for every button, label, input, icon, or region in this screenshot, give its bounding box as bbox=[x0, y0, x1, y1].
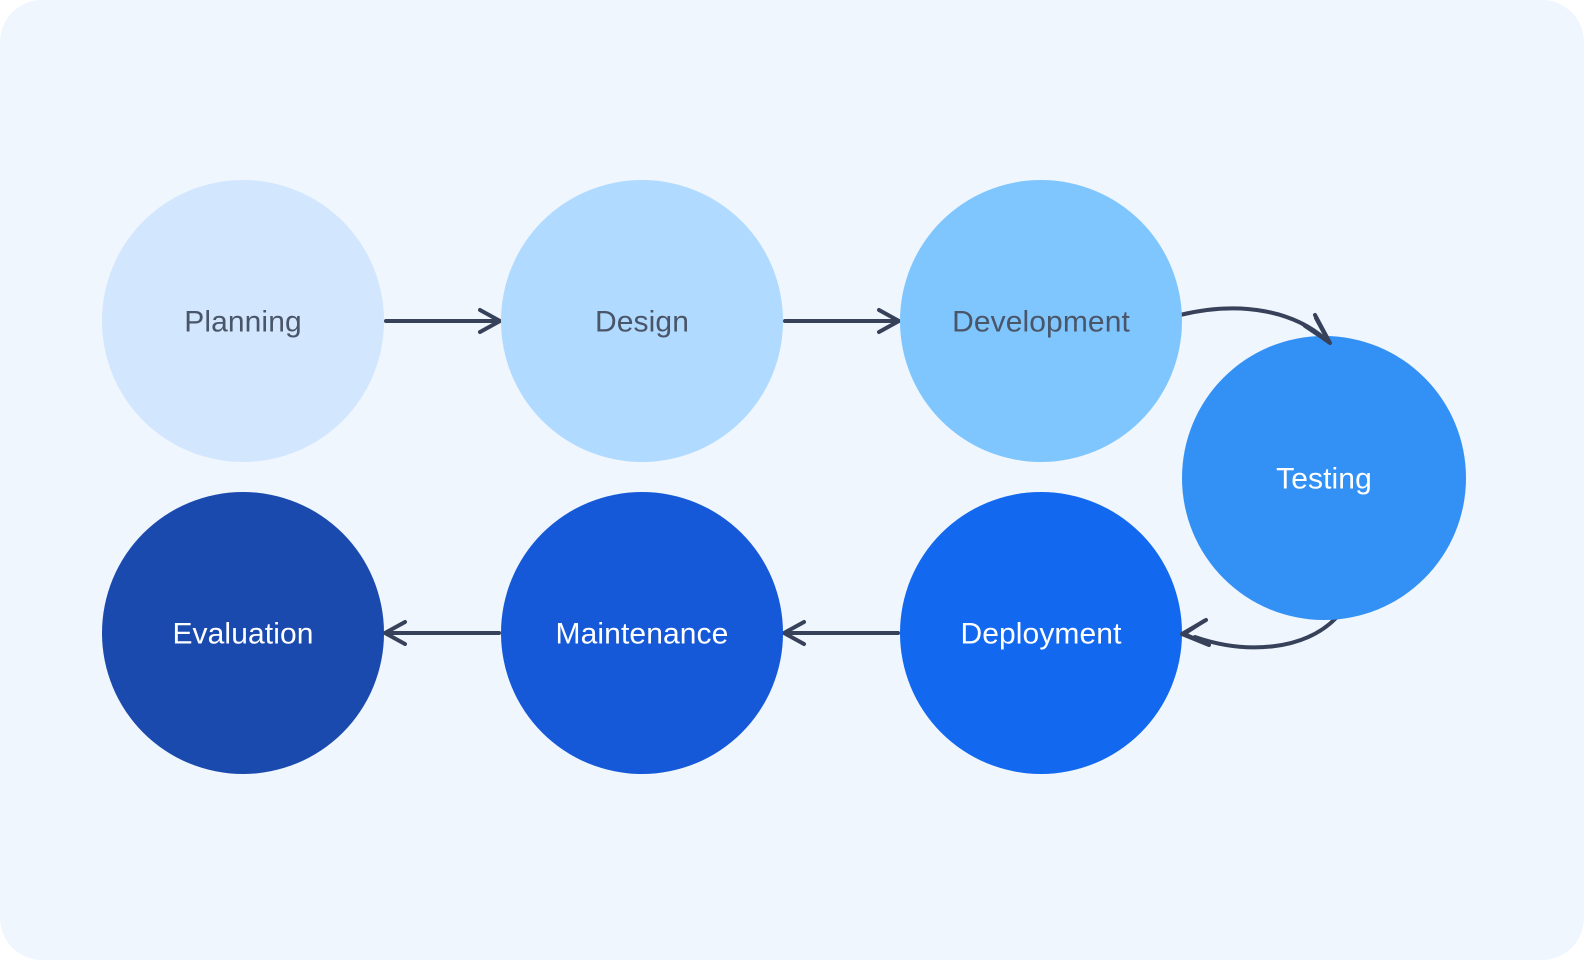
node-design[interactable]: Design bbox=[501, 180, 783, 462]
flow-diagram: Planning Design Development Testing Depl… bbox=[0, 0, 1584, 960]
node-deployment-circle[interactable] bbox=[900, 492, 1182, 774]
connector-design-to-development bbox=[785, 310, 899, 332]
arrow-head-icon-testing-to-deployment bbox=[1182, 620, 1209, 645]
node-maintenance-circle[interactable] bbox=[501, 492, 783, 774]
node-group: Planning Design Development Testing Depl… bbox=[102, 180, 1466, 774]
node-planning[interactable]: Planning bbox=[102, 180, 384, 462]
node-development-circle[interactable] bbox=[900, 180, 1182, 462]
node-deployment[interactable]: Deployment bbox=[900, 492, 1182, 774]
connector-maintenance-to-evaluation bbox=[385, 622, 499, 644]
connector-planning-to-design bbox=[386, 310, 500, 332]
node-evaluation-circle[interactable] bbox=[102, 492, 384, 774]
node-planning-circle[interactable] bbox=[102, 180, 384, 462]
connector-line bbox=[1195, 618, 1336, 647]
connector-deployment-to-maintenance bbox=[784, 622, 898, 644]
node-evaluation[interactable]: Evaluation bbox=[102, 492, 384, 774]
node-development[interactable]: Development bbox=[900, 180, 1182, 462]
node-maintenance[interactable]: Maintenance bbox=[501, 492, 783, 774]
node-testing[interactable]: Testing bbox=[1182, 336, 1466, 620]
node-design-circle[interactable] bbox=[501, 180, 783, 462]
diagram-canvas: Planning Design Development Testing Depl… bbox=[0, 0, 1584, 960]
node-testing-circle[interactable] bbox=[1182, 336, 1466, 620]
